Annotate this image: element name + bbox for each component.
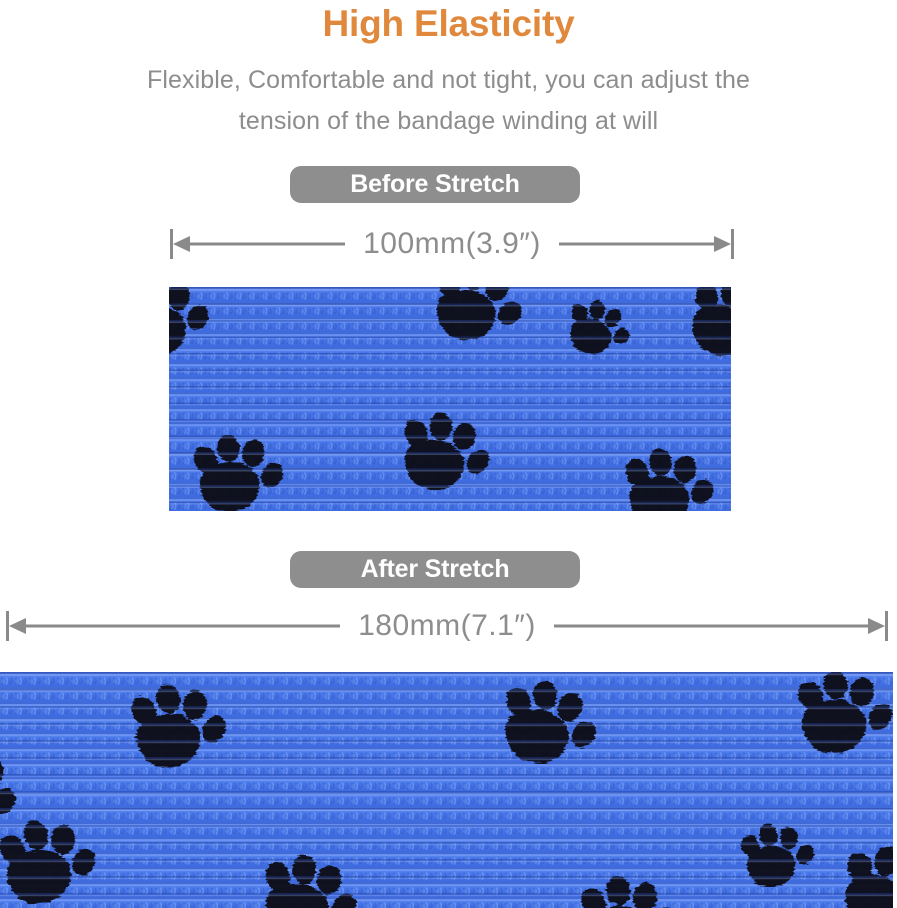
dimension-label-before: 100mm(3.9″) [345,227,559,261]
subtitle-line-2: tension of the bandage winding at will [0,101,897,142]
bandage-swatch-after [0,672,893,908]
dimension-label-after: 180mm(7.1″) [340,609,554,643]
dimension-after-stretch: 180mm(7.1″) [6,604,888,648]
badge-before-stretch: Before Stretch [290,166,580,203]
dimension-right-cap-icon [885,611,888,641]
dimension-shaft [554,625,871,628]
dimension-right-arm [554,611,885,641]
dimension-before-stretch: 100mm(3.9″) [170,222,734,266]
page-title: High Elasticity [0,2,897,46]
bandage-texture-after [0,672,893,908]
arrow-left-icon [9,618,26,634]
dimension-right-arm [559,229,731,259]
dimension-right-cap-icon [731,229,734,259]
bandage-texture-before [169,287,731,511]
badge-after-stretch: After Stretch [290,551,580,588]
dimension-shaft [23,625,340,628]
bandage-swatch-before [169,287,731,511]
arrow-right-icon [868,618,885,634]
arrow-left-icon [173,236,190,252]
subtitle-line-1: Flexible, Comfortable and not tight, you… [0,60,897,101]
dimension-shaft [559,243,717,246]
dimension-left-arm [173,229,345,259]
arrow-right-icon [714,236,731,252]
dimension-shaft [187,243,345,246]
dimension-left-arm [9,611,340,641]
page-subtitle: Flexible, Comfortable and not tight, you… [0,60,897,142]
